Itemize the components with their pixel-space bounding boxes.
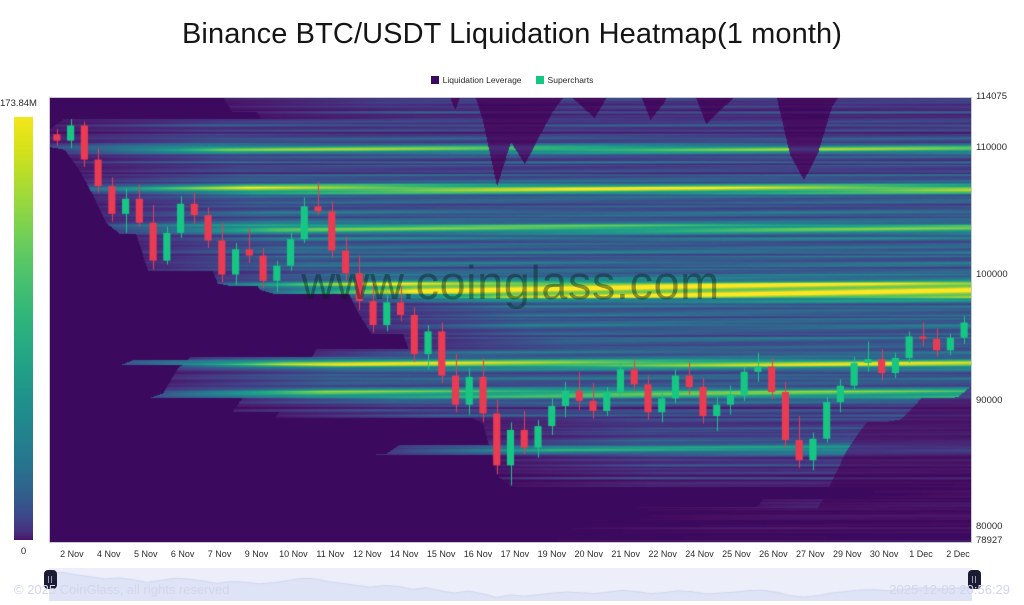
price-candlestick-layer	[50, 98, 971, 542]
price-tick-90000: 90000	[976, 395, 1002, 406]
date-tick-9: 14 Nov	[390, 549, 419, 559]
date-tick-15: 21 Nov	[611, 549, 640, 559]
date-tick-4: 7 Nov	[208, 549, 232, 559]
legend-item-supercharts[interactable]: Supercharts	[536, 75, 594, 85]
colorbar-min-label: 0	[14, 546, 33, 557]
price-tick-114075: 114075	[976, 91, 1007, 102]
legend-swatch-liquidation-leverage	[431, 76, 439, 84]
date-tick-20: 27 Nov	[796, 549, 825, 559]
legend-swatch-supercharts	[536, 76, 544, 84]
date-tick-18: 25 Nov	[722, 549, 751, 559]
timestamp-text: 2025-12-03 20:56:29	[889, 582, 1010, 597]
date-tick-11: 16 Nov	[464, 549, 493, 559]
date-tick-12: 17 Nov	[501, 549, 530, 559]
date-tick-21: 29 Nov	[833, 549, 862, 559]
date-tick-5: 9 Nov	[245, 549, 269, 559]
date-tick-24: 2 Dec	[946, 549, 970, 559]
date-tick-0: 2 Nov	[60, 549, 84, 559]
date-tick-19: 26 Nov	[759, 549, 788, 559]
price-tick-110000: 110000	[976, 142, 1007, 153]
date-tick-22: 30 Nov	[870, 549, 899, 559]
date-axis: 2 Nov4 Nov5 Nov6 Nov7 Nov9 Nov10 Nov11 N…	[49, 549, 972, 565]
price-axis: 114075110000100000900008000078927	[976, 97, 1024, 547]
colorbar-gradient	[14, 117, 33, 540]
date-tick-1: 4 Nov	[97, 549, 121, 559]
copyright-text: © 2025 CoinGlass, all rights reserved	[14, 582, 230, 597]
heatmap-page: Binance BTC/USDT Liquidation Heatmap(1 m…	[0, 0, 1024, 605]
price-tick-100000: 100000	[976, 269, 1008, 280]
date-tick-13: 19 Nov	[538, 549, 567, 559]
date-tick-23: 1 Dec	[909, 549, 933, 559]
heatmap-plot-area[interactable]: www.coinglass.com	[49, 97, 972, 543]
date-tick-14: 20 Nov	[575, 549, 604, 559]
date-tick-17: 24 Nov	[685, 549, 714, 559]
date-tick-7: 11 Nov	[316, 549, 344, 559]
date-tick-2: 5 Nov	[134, 549, 158, 559]
price-tick-80000: 80000	[976, 521, 1002, 532]
legend-item-liquidation-leverage[interactable]: Liquidation Leverage	[431, 75, 522, 85]
date-tick-10: 15 Nov	[427, 549, 456, 559]
date-tick-16: 22 Nov	[648, 549, 677, 559]
chart-legend: Liquidation Leverage Supercharts	[0, 75, 1024, 85]
page-title: Binance BTC/USDT Liquidation Heatmap(1 m…	[0, 18, 1024, 51]
colorbar	[14, 117, 33, 540]
legend-label-liquidation-leverage: Liquidation Leverage	[443, 75, 522, 85]
date-tick-3: 6 Nov	[171, 549, 195, 559]
date-tick-6: 10 Nov	[279, 549, 308, 559]
legend-label-supercharts: Supercharts	[548, 75, 594, 85]
date-tick-8: 12 Nov	[353, 549, 382, 559]
price-tick-78927: 78927	[976, 535, 1002, 546]
